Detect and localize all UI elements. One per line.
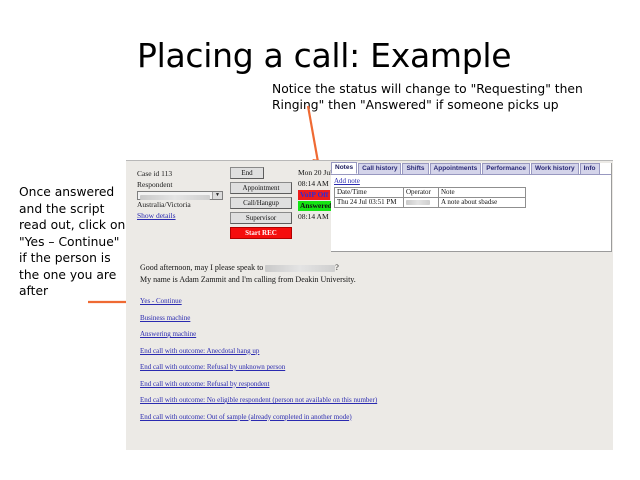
tab-appointments[interactable]: Appointments (430, 163, 482, 174)
notes-tab-body: Add note Date/Time Operator Note Thu 24 … (331, 174, 611, 251)
redacted-operator (406, 200, 430, 205)
script-line-1-before: Good afternoon, may I please speak to (140, 263, 263, 272)
answer-out-of-sample[interactable]: End call with outcome: Out of sample (al… (140, 413, 377, 421)
answer-no-eligible-respondent[interactable]: End call with outcome: No eligible respo… (140, 396, 377, 404)
script-panel: Good afternoon, may I please speak to ? … (126, 253, 613, 450)
call-hangup-button[interactable]: Call/Hangup (230, 197, 292, 209)
tab-info[interactable]: Info (580, 163, 600, 174)
application-screenshot: Case id 113 Respondent ▼ Australia/Victo… (126, 160, 613, 450)
supervisor-button[interactable]: Supervisor (230, 212, 292, 224)
script-line-1: Good afternoon, may I please speak to ? (140, 262, 356, 274)
tab-call-history[interactable]: Call history (358, 163, 401, 174)
appointment-button[interactable]: Appointment (230, 182, 292, 194)
slide-canvas: Placing a call: Example Notice the statu… (0, 0, 640, 480)
column-datetime: Date/Time (335, 188, 404, 198)
cell-datetime: Thu 24 Jul 03:51 PM (335, 198, 404, 208)
table-header-row: Date/Time Operator Note (335, 188, 526, 198)
case-info-block: Case id 113 Respondent ▼ Australia/Victo… (137, 169, 225, 221)
add-note-link[interactable]: Add note (334, 177, 608, 185)
column-operator: Operator (404, 188, 439, 198)
answer-anecdotal-hangup[interactable]: End call with outcome: Anecdotal hang up (140, 347, 377, 355)
call-status-badge: Answered (298, 201, 334, 211)
cell-operator (404, 198, 439, 208)
call-action-buttons: End Appointment Call/Hangup Supervisor S… (230, 167, 294, 242)
answer-yes-continue[interactable]: Yes - Continue (140, 297, 377, 305)
chevron-down-icon[interactable]: ▼ (212, 192, 222, 199)
annotation-status-note: Notice the status will change to "Reques… (272, 82, 602, 113)
script-line-1-after: ? (335, 263, 339, 272)
end-button[interactable]: End (230, 167, 264, 179)
table-row[interactable]: Thu 24 Jul 03:51 PM A note about sbadse (335, 198, 526, 208)
answer-refusal-unknown-person[interactable]: End call with outcome: Refusal by unknow… (140, 363, 377, 371)
timezone-label: Australia/Victoria (137, 200, 225, 211)
tab-strip: Notes Call history Shifts Appointments P… (331, 163, 611, 174)
tab-panel: Notes Call history Shifts Appointments P… (331, 163, 612, 252)
redacted-respondent-name (265, 265, 335, 272)
case-id-label: Case id 113 (137, 169, 225, 180)
tab-notes[interactable]: Notes (331, 162, 357, 174)
answer-answering-machine[interactable]: Answering machine (140, 330, 377, 338)
respondent-select[interactable]: ▼ (137, 191, 223, 200)
column-note: Note (439, 188, 526, 198)
voip-status-badge: VoIP Off (298, 190, 330, 200)
notes-table: Date/Time Operator Note Thu 24 Jul 03:51… (334, 187, 526, 208)
answer-option-list: Yes - Continue Business machine Answerin… (140, 297, 377, 429)
tab-shifts[interactable]: Shifts (402, 163, 428, 174)
respondent-label: Respondent (137, 180, 225, 191)
answer-business-machine[interactable]: Business machine (140, 314, 377, 322)
cell-note: A note about sbadse (439, 198, 526, 208)
show-details-link[interactable]: Show details (137, 211, 225, 222)
tab-work-history[interactable]: Work history (531, 163, 579, 174)
answer-refusal-respondent[interactable]: End call with outcome: Refusal by respon… (140, 380, 377, 388)
call-script: Good afternoon, may I please speak to ? … (140, 262, 356, 285)
redacted-respondent-value (140, 195, 210, 200)
annotation-continue-note: Once answered and the script read out, c… (19, 184, 131, 300)
app-header-panel: Case id 113 Respondent ▼ Australia/Victo… (126, 160, 613, 254)
tab-performance[interactable]: Performance (482, 163, 530, 174)
start-rec-button[interactable]: Start REC (230, 227, 292, 239)
page-title: Placing a call: Example (137, 36, 511, 75)
script-line-2: My name is Adam Zammit and I'm calling f… (140, 274, 356, 286)
